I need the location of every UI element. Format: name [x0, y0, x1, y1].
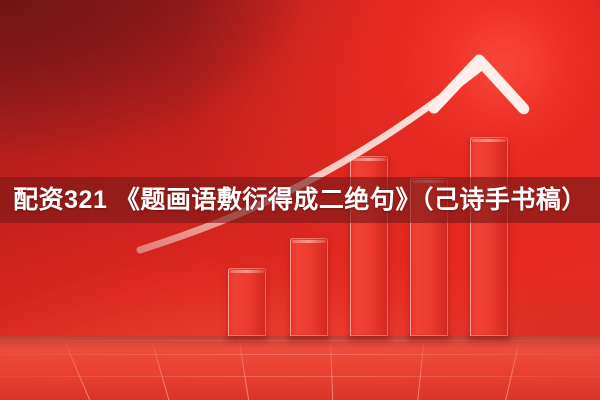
chart-bar [228, 268, 266, 336]
banner-graphic: 配资321 《题画语敷衍得成二绝句》（己诗手书稿） [0, 0, 600, 400]
title-banner: 配资321 《题画语敷衍得成二绝句》（己诗手书稿） [0, 177, 600, 223]
chart-bar [290, 238, 328, 336]
bar-shadow [408, 335, 450, 342]
chart-bar [470, 137, 508, 336]
bar-shadow [468, 335, 510, 342]
banner-title-text: 配资321 《题画语敷衍得成二绝句》（己诗手书稿） [0, 188, 600, 213]
bar-shadow [348, 335, 390, 342]
bar-shadow [288, 335, 330, 342]
bar-shadow [226, 335, 268, 342]
